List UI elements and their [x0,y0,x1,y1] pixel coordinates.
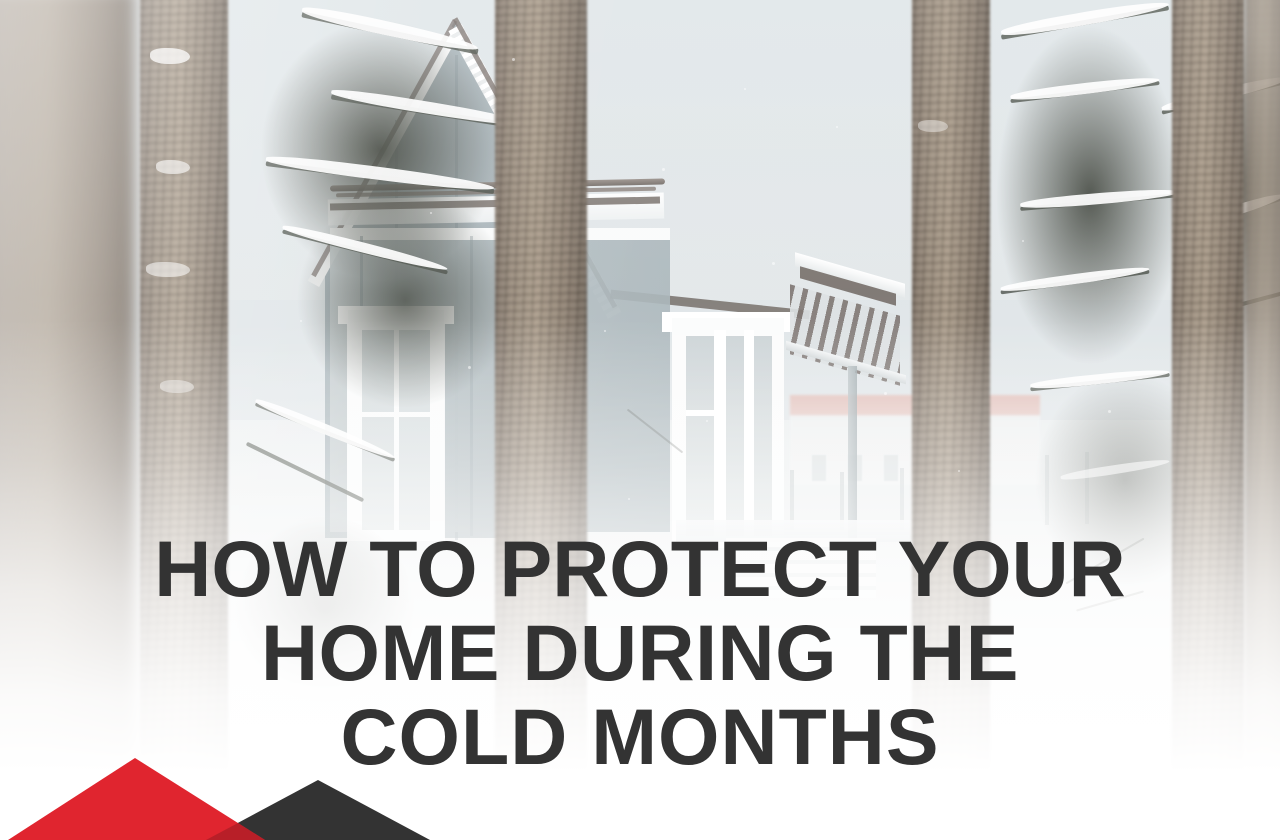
dual-chevron-logo [0,745,430,840]
headline-line-1: HOW TO PROTECT YOUR [0,527,1280,611]
window-mullion [686,410,714,416]
snow-on-trunk [150,48,190,64]
snow-on-trunk [146,262,190,277]
headline-line-2: HOME DURING THE [0,611,1280,695]
window-mullion [744,330,754,542]
snow-on-trunk [918,120,948,132]
poster-canvas: HOW TO PROTECT YOUR HOME DURING THE COLD… [0,0,1280,840]
far-building-window [812,455,826,481]
poster-headline: HOW TO PROTECT YOUR HOME DURING THE COLD… [0,527,1280,779]
window-glass [686,336,714,536]
snow-on-trunk [160,380,194,393]
far-building-window [884,455,898,481]
snow-on-trunk [156,160,190,174]
window-glass [754,336,772,536]
window-mullion [714,330,726,542]
window-glass [726,336,744,536]
porch-post [848,366,857,541]
red-chevron-icon [8,758,265,840]
